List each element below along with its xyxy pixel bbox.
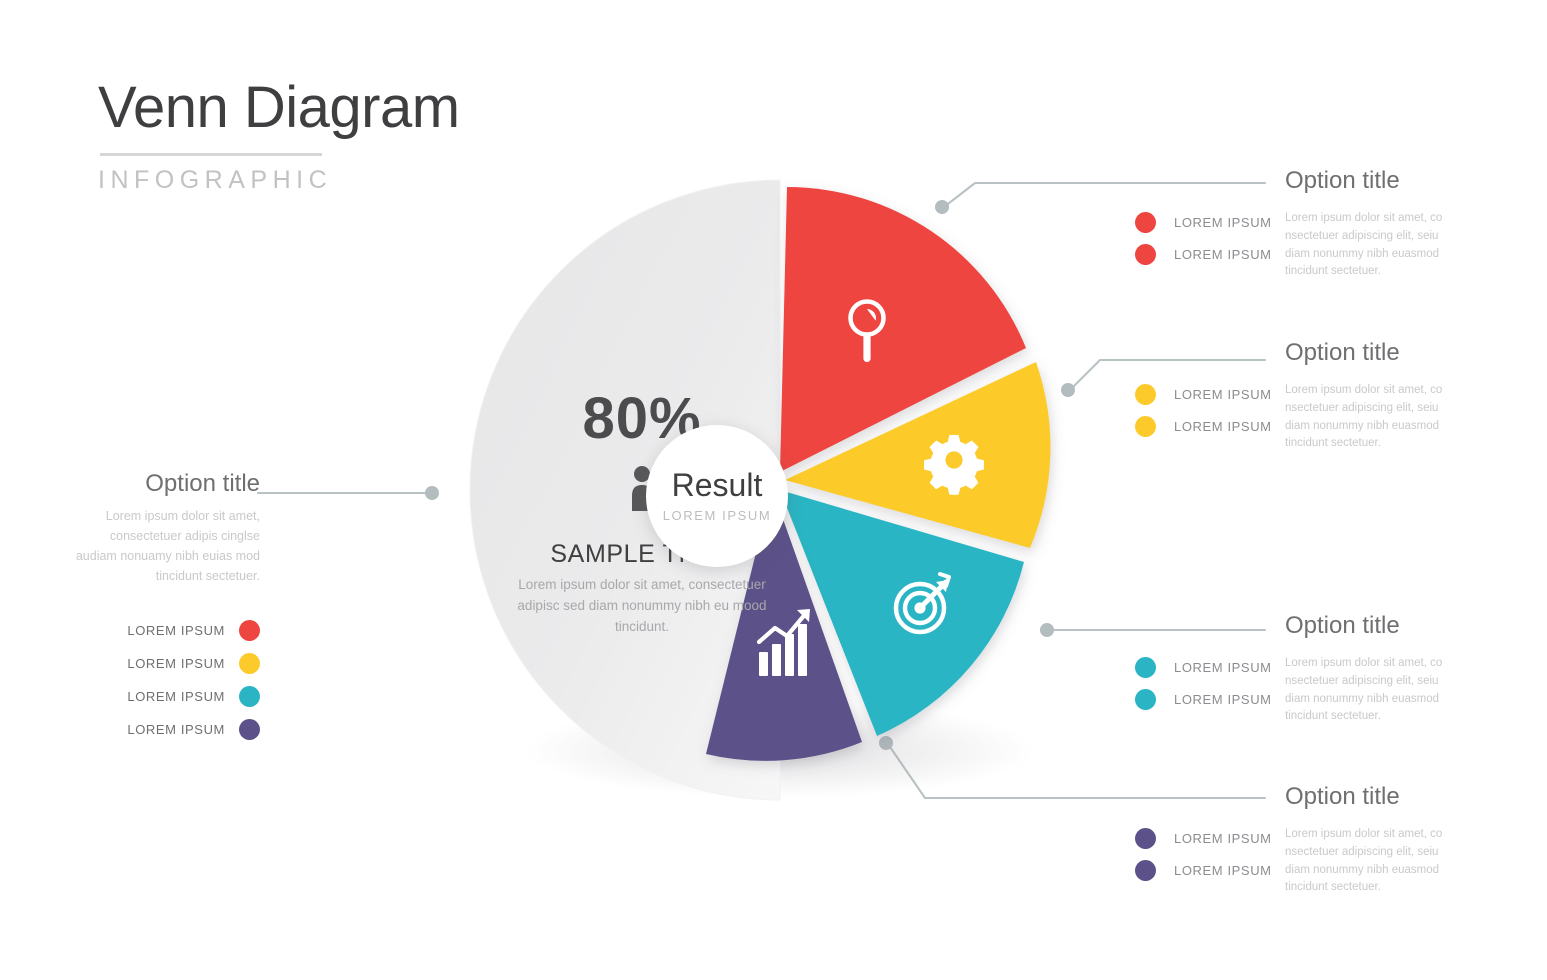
- legend-dot-teal: [1135, 657, 1156, 678]
- legend-dot-teal: [1135, 689, 1156, 710]
- legend-label: LOREM IPSUM: [1174, 660, 1272, 675]
- legend-dot-purple: [1135, 828, 1156, 849]
- legend-label: LOREM IPSUM: [1174, 419, 1272, 434]
- gear-icon: [924, 435, 984, 495]
- legend-item[interactable]: LOREM IPSUM: [70, 614, 260, 647]
- legend-item[interactable]: LOREM IPSUM: [70, 713, 260, 746]
- legend-label: LOREM IPSUM: [1174, 863, 1272, 878]
- option-panel-right-1: Option title Lorem ipsum dolor sit amet,…: [1285, 168, 1547, 194]
- legend-item[interactable]: LOREM IPSUM: [1135, 683, 1272, 715]
- option-title: Option title: [1285, 168, 1547, 194]
- legend-list-right-4: LOREM IPSUM LOREM IPSUM: [1135, 822, 1272, 886]
- legend-dot-purple: [1135, 860, 1156, 881]
- legend-list-right-3: LOREM IPSUM LOREM IPSUM: [1135, 651, 1272, 715]
- legend-dot-teal: [239, 686, 260, 707]
- option-body: Lorem ipsum dolor sit amet, co nsectetue…: [1285, 210, 1443, 281]
- legend-item[interactable]: LOREM IPSUM: [1135, 410, 1272, 442]
- legend-list-right-1: LOREM IPSUM LOREM IPSUM: [1135, 206, 1272, 270]
- legend-label: LOREM IPSUM: [1174, 831, 1272, 846]
- legend-item[interactable]: LOREM IPSUM: [1135, 238, 1272, 270]
- option-panel-left: Option title Lorem ipsum dolor sit amet,…: [70, 470, 260, 746]
- option-title: Option title: [1285, 340, 1547, 366]
- legend-label: LOREM IPSUM: [1174, 692, 1272, 707]
- page-title: Venn Diagram: [98, 78, 460, 139]
- center-result-title: Result: [672, 469, 763, 501]
- option-panel-right-4: Option title Lorem ipsum dolor sit amet,…: [1285, 784, 1547, 810]
- title-divider: [100, 153, 322, 156]
- option-panel-right-2: Option title Lorem ipsum dolor sit amet,…: [1285, 340, 1547, 366]
- legend-item[interactable]: LOREM IPSUM: [70, 680, 260, 713]
- venn-wheel: 80% SAMPLE TITLE Lorem ipsum dolor sit a…: [430, 150, 1090, 810]
- sample-body: Lorem ipsum dolor sit amet, consectetuer…: [517, 575, 767, 638]
- legend-label: LOREM IPSUM: [1174, 247, 1272, 262]
- legend-dot-red: [239, 620, 260, 641]
- legend-item[interactable]: LOREM IPSUM: [1135, 378, 1272, 410]
- legend-label: LOREM IPSUM: [1174, 387, 1272, 402]
- legend-label: LOREM IPSUM: [1174, 215, 1272, 230]
- option-body: Lorem ipsum dolor sit amet, consectetuer…: [70, 506, 260, 586]
- option-body: Lorem ipsum dolor sit amet, co nsectetue…: [1285, 382, 1443, 453]
- legend-item[interactable]: LOREM IPSUM: [70, 647, 260, 680]
- legend-item[interactable]: LOREM IPSUM: [1135, 651, 1272, 683]
- option-panel-right-3: Option title Lorem ipsum dolor sit amet,…: [1285, 613, 1547, 639]
- option-body: Lorem ipsum dolor sit amet, co nsectetue…: [1285, 826, 1443, 897]
- legend-item[interactable]: LOREM IPSUM: [1135, 822, 1272, 854]
- legend-dot-red: [1135, 244, 1156, 265]
- option-title: Option title: [70, 470, 260, 498]
- legend-dot-yellow: [1135, 416, 1156, 437]
- option-body: Lorem ipsum dolor sit amet, co nsectetue…: [1285, 655, 1443, 726]
- legend-item[interactable]: LOREM IPSUM: [1135, 854, 1272, 886]
- legend-dot-yellow: [1135, 384, 1156, 405]
- legend-dot-yellow: [239, 653, 260, 674]
- legend-dot-red: [1135, 212, 1156, 233]
- legend-label: LOREM IPSUM: [127, 689, 225, 704]
- legend-list-right-2: LOREM IPSUM LOREM IPSUM: [1135, 378, 1272, 442]
- center-result-badge[interactable]: Result LOREM IPSUM: [646, 425, 788, 567]
- option-title: Option title: [1285, 784, 1547, 810]
- legend-label: LOREM IPSUM: [127, 623, 225, 638]
- legend-dot-purple: [239, 719, 260, 740]
- legend-label: LOREM IPSUM: [127, 656, 225, 671]
- page-header: Venn Diagram INFOGRAPHIC: [98, 78, 460, 195]
- center-result-subtitle: LOREM IPSUM: [663, 508, 772, 523]
- legend-list-left: LOREM IPSUM LOREM IPSUM LOREM IPSUM LORE…: [70, 614, 260, 746]
- page-subtitle: INFOGRAPHIC: [98, 166, 460, 195]
- option-title: Option title: [1285, 613, 1547, 639]
- legend-label: LOREM IPSUM: [127, 722, 225, 737]
- legend-item[interactable]: LOREM IPSUM: [1135, 206, 1272, 238]
